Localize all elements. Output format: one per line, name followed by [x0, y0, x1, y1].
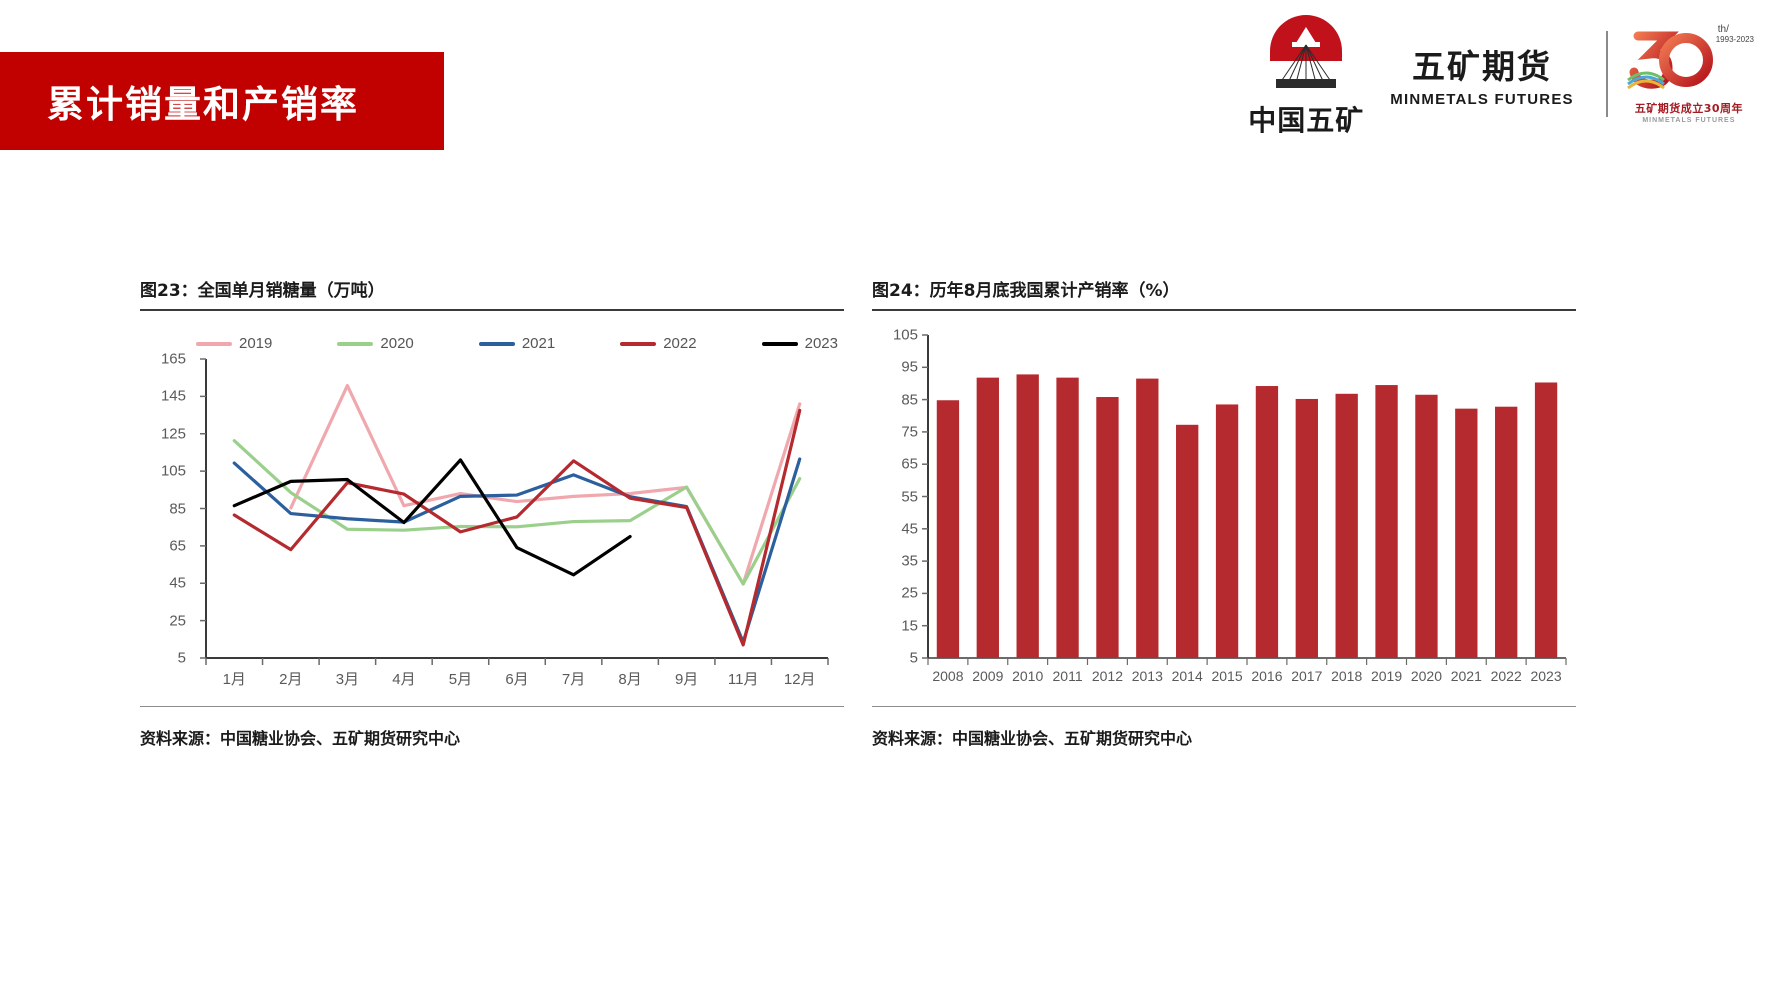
- fig24-ytick: 25: [874, 585, 918, 602]
- minmetals-futures-wordmark: 五矿期货 MINMETALS FUTURES: [1390, 40, 1573, 108]
- fig24-bar[interactable]: [1336, 394, 1358, 658]
- fig24-ytick: 65: [874, 456, 918, 473]
- legend-swatch-icon: [479, 342, 515, 346]
- fig23-legend-label: 2019: [239, 335, 272, 352]
- fig23-legend-item-2021[interactable]: 2021: [479, 335, 555, 352]
- fig24-bar[interactable]: [1415, 395, 1437, 658]
- legend-swatch-icon: [337, 342, 373, 346]
- fig24-xtick: 2018: [1331, 668, 1362, 684]
- anniversary-th-label: th/: [1718, 24, 1754, 35]
- anniversary-cn-label: 五矿期货成立30周年: [1635, 100, 1743, 116]
- fig23-xtick: 11月: [728, 668, 759, 689]
- fig24-xtick: 2023: [1530, 668, 1561, 684]
- fig23-xtick: 7月: [562, 668, 585, 689]
- fig23-line-chart: 20192020202120222023 5254565851051251451…: [140, 311, 844, 706]
- fig23-legend-item-2019[interactable]: 2019: [196, 335, 272, 352]
- fig24-xtick: 2016: [1251, 668, 1282, 684]
- fig24-xtick: 2020: [1411, 668, 1442, 684]
- fig24-xtick: 2019: [1371, 668, 1402, 684]
- fig23-legend: 20192020202120222023: [196, 335, 838, 352]
- fig24-bar[interactable]: [1216, 404, 1238, 658]
- china-minmetals-label: 中国五矿: [1248, 99, 1364, 139]
- fig23-plot-area: [140, 311, 844, 706]
- fig23-legend-label: 2020: [380, 335, 413, 352]
- wordmark-cn: 五矿期货: [1412, 40, 1552, 88]
- fig23-x-axis: 1月2月3月4月5月6月7月8月9月11月12月: [140, 668, 844, 696]
- fig24-ytick: 55: [874, 488, 918, 505]
- china-minmetals-logo: 中国五矿: [1248, 9, 1364, 139]
- fig23-xtick: 8月: [618, 668, 641, 689]
- fig23-ytick: 25: [140, 612, 186, 629]
- fig24-xtick: 2021: [1451, 668, 1482, 684]
- fig23-xtick: 12月: [784, 668, 816, 689]
- fig23-ytick: 105: [140, 463, 186, 480]
- fig24-xtick: 2017: [1291, 668, 1322, 684]
- fig23-y-axis: 525456585105125145165: [140, 311, 186, 706]
- page-title-banner: 累计销量和产销率: [0, 52, 444, 150]
- fig24-ytick: 5: [874, 650, 918, 667]
- fig24-bar[interactable]: [1136, 379, 1158, 658]
- fig23-legend-label: 2021: [522, 335, 555, 352]
- fig24-bar[interactable]: [1455, 409, 1477, 658]
- fig24-bar[interactable]: [1535, 382, 1557, 658]
- fig24-bar[interactable]: [977, 378, 999, 658]
- fig24-xtick: 2012: [1092, 668, 1123, 684]
- fig24-xtick: 2011: [1053, 668, 1083, 684]
- fig23-ytick: 145: [140, 388, 186, 405]
- brand-divider: [1606, 31, 1608, 117]
- fig23-legend-item-2023[interactable]: 2023: [762, 335, 838, 352]
- fig24-xtick: 2008: [932, 668, 963, 684]
- legend-swatch-icon: [762, 342, 798, 346]
- fig24-bar[interactable]: [1296, 399, 1318, 658]
- fig24-y-axis: 5152535455565758595105: [872, 311, 918, 706]
- fig23-xtick: 2月: [279, 668, 302, 689]
- anniversary-30-icon: [1624, 24, 1716, 96]
- fig23-xtick: 1月: [223, 668, 246, 689]
- fig24-title: 图24：历年8月底我国累计产销率（%）: [872, 276, 1576, 309]
- fig23-xtick: 5月: [449, 668, 472, 689]
- fig24-bar[interactable]: [1495, 407, 1517, 658]
- fig24-ytick: 35: [874, 553, 918, 570]
- brand-logo-group: 中国五矿 五矿期货 MINMETALS FUTURES t: [1248, 14, 1754, 134]
- fig24-plot-area: [872, 311, 1576, 706]
- fig24-bar[interactable]: [1256, 386, 1278, 658]
- fig24-bar[interactable]: [937, 400, 959, 658]
- fig23-xtick: 6月: [505, 668, 528, 689]
- page-title: 累计销量和产销率: [47, 74, 359, 128]
- fig23-ytick: 5: [140, 650, 186, 667]
- anniversary-years: 1993-2023: [1716, 35, 1754, 44]
- fig23-legend-label: 2022: [663, 335, 696, 352]
- fig24-bar[interactable]: [1017, 374, 1039, 658]
- fig24-source: 资料来源：中国糖业协会、五矿期货研究中心: [872, 707, 1576, 749]
- figure-panel-fig23: 图23：全国单月销糖量（万吨） 20192020202120222023 525…: [140, 276, 844, 749]
- legend-swatch-icon: [620, 342, 656, 346]
- fig23-ytick: 125: [140, 425, 186, 442]
- fig23-legend-item-2022[interactable]: 2022: [620, 335, 696, 352]
- fig24-xtick: 2009: [972, 668, 1003, 684]
- fig23-ytick: 85: [140, 500, 186, 517]
- fig24-xtick: 2014: [1172, 668, 1203, 684]
- fig24-ytick: 95: [874, 359, 918, 376]
- fig24-bar[interactable]: [1096, 397, 1118, 658]
- fig24-xtick: 2013: [1132, 668, 1163, 684]
- legend-swatch-icon: [196, 342, 232, 346]
- fig23-legend-item-2020[interactable]: 2020: [337, 335, 413, 352]
- fig23-ytick: 65: [140, 537, 186, 554]
- figure-panel-fig24: 图24：历年8月底我国累计产销率（%） 51525354555657585951…: [872, 276, 1576, 749]
- fig24-xtick: 2022: [1491, 668, 1522, 684]
- minmetals-emblem-icon: [1262, 9, 1350, 97]
- wordmark-en: MINMETALS FUTURES: [1390, 91, 1573, 108]
- fig24-bar[interactable]: [1176, 425, 1198, 658]
- fig24-ytick: 85: [874, 391, 918, 408]
- fig23-xtick: 9月: [675, 668, 698, 689]
- fig23-xtick: 4月: [392, 668, 415, 689]
- fig24-ytick: 75: [874, 423, 918, 440]
- fig24-bar-chart: 5152535455565758595105 20082009201020112…: [872, 311, 1576, 706]
- fig24-bar[interactable]: [1056, 378, 1078, 658]
- fig24-ytick: 105: [874, 327, 918, 344]
- fig24-bar[interactable]: [1375, 385, 1397, 658]
- fig24-x-axis: 2008200920102011201220132014201520162017…: [872, 668, 1576, 696]
- fig23-ytick: 45: [140, 575, 186, 592]
- fig23-xtick: 3月: [336, 668, 359, 689]
- anniversary-badge: th/ 1993-2023 五矿期货成立30周年 MINMETALS FUTUR…: [1624, 24, 1754, 124]
- fig24-ytick: 45: [874, 520, 918, 537]
- fig23-ytick: 165: [140, 351, 186, 368]
- fig24-xtick: 2015: [1211, 668, 1242, 684]
- fig23-source: 资料来源：中国糖业协会、五矿期货研究中心: [140, 707, 844, 749]
- fig24-xtick: 2010: [1012, 668, 1043, 684]
- anniversary-en-label: MINMETALS FUTURES: [1642, 117, 1735, 124]
- fig24-ytick: 15: [874, 617, 918, 634]
- fig23-title: 图23：全国单月销糖量（万吨）: [140, 276, 844, 309]
- fig23-legend-label: 2023: [805, 335, 838, 352]
